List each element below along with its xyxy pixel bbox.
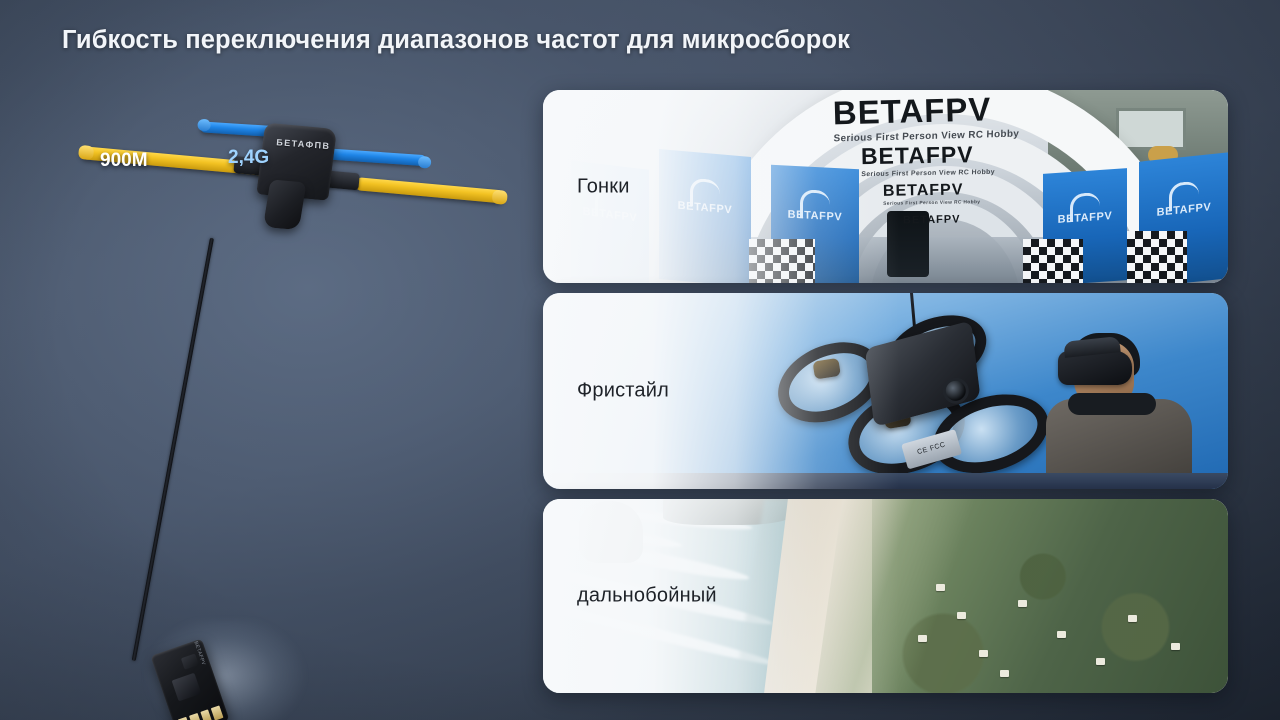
- race-gate-brand-2-text: BETAFPV: [861, 141, 974, 169]
- card-racing[interactable]: BETAFPV Serious First Person View RC Hob…: [543, 90, 1228, 283]
- floor-reflection-glow: [120, 620, 330, 720]
- race-gate-brand-2: BETAFPV Serious First Person View RC Hob…: [861, 141, 995, 178]
- antenna-24g-right-element: [321, 148, 427, 166]
- label-900m: 900M: [100, 150, 148, 172]
- card-freestyle-label: Фристайл: [577, 380, 669, 403]
- product-photo-antenna: БЕТАФПВ BETAFPV 900M 2,4G: [0, 60, 530, 720]
- race-gate-brand-4-text: BETAFPV: [903, 213, 961, 226]
- race-gate-brand-4: BETAFPV: [903, 213, 961, 226]
- card-racing-label: Гонки: [577, 175, 630, 198]
- antenna-900m-right-element: [354, 177, 505, 204]
- card-long-range[interactable]: дальнобойный: [543, 499, 1228, 693]
- race-gate-brand-1: BETAFPV Serious First Person View RC Hob…: [832, 90, 1019, 144]
- antenna-coax-cable: [132, 238, 214, 662]
- race-gate-brand-1-text: BETAFPV: [832, 90, 991, 131]
- card-racing-photo: BETAFPV Serious First Person View RC Hob…: [543, 90, 1228, 283]
- use-case-card-list: BETAFPV Serious First Person View RC Hob…: [543, 90, 1228, 693]
- race-gate-brand-3-text: BETAFPV: [883, 181, 964, 199]
- antenna-900m-right-cap: [492, 190, 508, 205]
- antenna-24g-right-cap: [418, 156, 432, 169]
- card-freestyle[interactable]: CE FCC Фристайл: [543, 293, 1228, 489]
- antenna-hub-stem: [263, 179, 307, 230]
- antenna-900m-left-cap: [78, 145, 94, 160]
- race-gate-brand-3: BETAFPV Serious First Person View RC Hob…: [883, 181, 981, 207]
- label-24g: 2,4G: [228, 147, 269, 169]
- page-title: Гибкость переключения диапазонов частот …: [62, 26, 850, 55]
- slide-root: Гибкость переключения диапазонов частот …: [0, 0, 1280, 720]
- card-long-range-label: дальнобойный: [577, 585, 717, 608]
